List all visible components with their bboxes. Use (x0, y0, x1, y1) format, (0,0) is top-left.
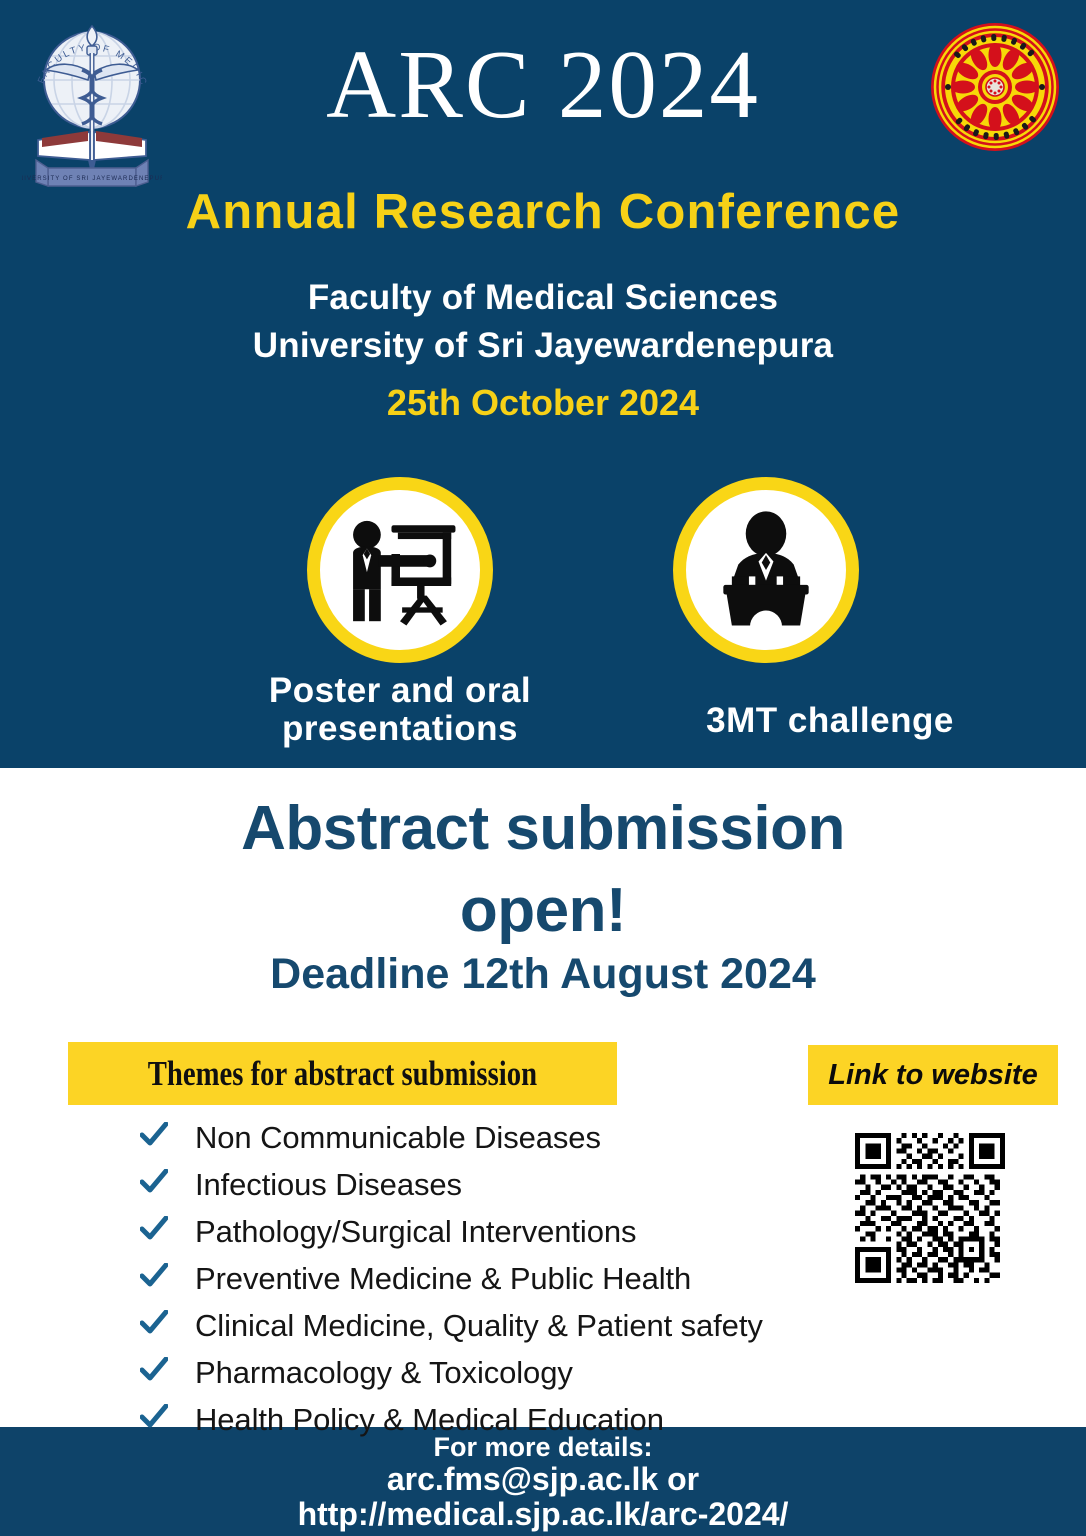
list-item: Preventive Medicine & Public Health (140, 1259, 820, 1306)
abstract-submission-heading: Abstract submission open! (0, 788, 1086, 952)
check-icon (140, 1259, 195, 1289)
footer-website-url[interactable]: http://medical.sjp.ac.lk/arc-2024/ (0, 1496, 1086, 1533)
list-item-label: Pathology/Surgical Interventions (195, 1214, 636, 1250)
list-item: Pathology/Surgical Interventions (140, 1212, 820, 1259)
link-to-website-label: Link to website (828, 1059, 1037, 1092)
faculty-name: Faculty of Medical Sciences (0, 278, 1086, 318)
qr-code-icon[interactable] (855, 1133, 1005, 1283)
check-icon (140, 1212, 195, 1242)
list-item-label: Infectious Diseases (195, 1167, 462, 1203)
format-caption-poster-line1: Poster and oral (180, 672, 620, 710)
themes-banner: Themes for abstract submission (68, 1042, 617, 1105)
page-subtitle: Annual Research Conference (0, 184, 1086, 240)
deadline-text: Deadline 12th August 2024 (0, 950, 1086, 999)
list-item-label: Clinical Medicine, Quality & Patient saf… (195, 1308, 763, 1344)
format-caption-poster: Poster and oral presentations (180, 672, 620, 748)
footer-email[interactable]: arc.fms@sjp.ac.lk or (0, 1461, 1086, 1498)
list-item: Non Communicable Diseases (140, 1118, 820, 1165)
page-title: ARC 2024 (0, 34, 1086, 136)
list-item: Pharmacology & Toxicology (140, 1353, 820, 1400)
presenter-flipchart-icon (307, 477, 493, 663)
abstract-submission-heading-line2: open! (0, 870, 1086, 952)
svg-text:UNIVERSITY OF SRI JAYEWARDENEP: UNIVERSITY OF SRI JAYEWARDENEPURA (22, 176, 162, 182)
university-name: University of Sri Jayewardenepura (0, 326, 1086, 366)
themes-list: Non Communicable Diseases Infectious Dis… (140, 1118, 820, 1447)
check-icon (140, 1400, 195, 1430)
speaker-podium-icon (673, 477, 859, 663)
list-item-label: Pharmacology & Toxicology (195, 1355, 573, 1391)
conference-poster: FACULTY OF MEDICAL SCIENCES (0, 0, 1086, 1536)
link-to-website-banner[interactable]: Link to website (808, 1045, 1058, 1105)
check-icon (140, 1306, 195, 1336)
list-item-label: Preventive Medicine & Public Health (195, 1261, 691, 1297)
abstract-submission-heading-line1: Abstract submission (0, 788, 1086, 870)
conference-date: 25th October 2024 (0, 382, 1086, 424)
format-caption-3mt: 3MT challenge (620, 702, 1040, 740)
list-item: Infectious Diseases (140, 1165, 820, 1212)
list-item: Clinical Medicine, Quality & Patient saf… (140, 1306, 820, 1353)
footer-contact-label: For more details: (0, 1432, 1086, 1463)
themes-banner-label: Themes for abstract submission (148, 1054, 537, 1094)
check-icon (140, 1118, 195, 1148)
format-caption-poster-line2: presentations (180, 710, 620, 748)
check-icon (140, 1353, 195, 1383)
check-icon (140, 1165, 195, 1195)
list-item-label: Non Communicable Diseases (195, 1120, 601, 1156)
